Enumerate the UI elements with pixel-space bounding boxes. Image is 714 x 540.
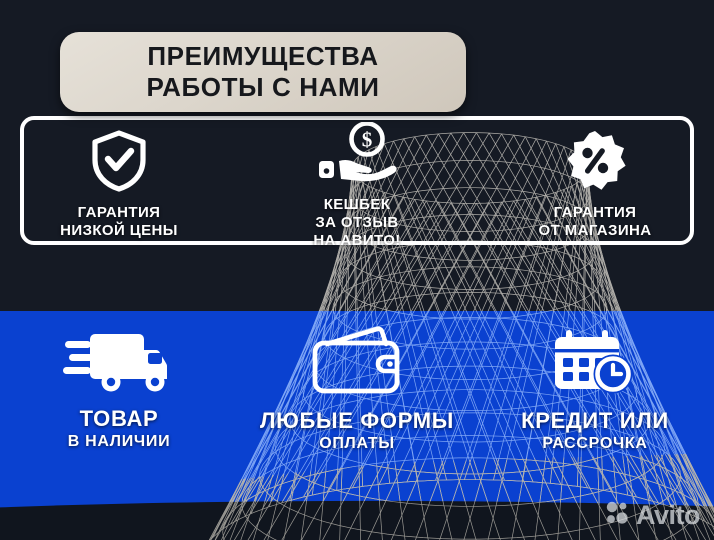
delivery-truck-icon [63,326,175,399]
wallet-icon [305,326,409,401]
caption-line-3: НА АВИТО! [313,232,400,250]
feature-caption: ГАРАНТИЯ ОТ МАГАЗИНА [539,204,652,240]
caption-line-2: В НАЛИЧИИ [68,431,171,452]
calendar-clock-icon [549,326,641,401]
feature-in-stock: ТОВАР В НАЛИЧИИ [0,326,238,456]
percent-badge-icon [564,130,626,197]
shield-check-icon [91,130,147,197]
caption-line-2: ОТ МАГАЗИНА [539,222,652,240]
caption-line-1: ЛЮБЫЕ ФОРМЫ [260,408,454,433]
caption-line-1: КРЕДИТ ИЛИ [521,408,669,433]
title-banner: ПРЕИМУЩЕСТВА РАБОТЫ С НАМИ [60,32,466,112]
avito-watermark: Avito [605,501,700,530]
promo-banner-image: ПРЕИМУЩЕСТВА РАБОТЫ С НАМИ ГАРАНТИЯ НИЗК… [0,0,714,540]
feature-caption: ГАРАНТИЯ НИЗКОЙ ЦЕНЫ [60,204,178,240]
bottom-feature-row: ТОВАР В НАЛИЧИИ ЛЮБЫЕ ФОРМЫ ОПЛАТЫ [0,326,714,456]
caption-line-2: ОПЛАТЫ [260,433,454,454]
feature-caption: ЛЮБЫЕ ФОРМЫ ОПЛАТЫ [260,408,454,454]
avito-logo-icon [605,501,631,530]
caption-line-1: ТОВАР [68,406,171,431]
caption-line-1: ГАРАНТИЯ [60,204,178,222]
feature-caption: ТОВАР В НАЛИЧИИ [68,406,171,452]
avito-wordmark: Avito [636,502,700,529]
title-line-1: ПРЕИМУЩЕСТВА [147,41,378,72]
feature-cashback-avito: $ КЕШБЕК ЗА ОТЗЫВ НА АВИТО! [238,130,476,255]
feature-payment-methods: ЛЮБЫЕ ФОРМЫ ОПЛАТЫ [238,326,476,456]
caption-line-1: ГАРАНТИЯ [539,204,652,222]
caption-line-2: ЗА ОТЗЫВ [313,214,400,232]
svg-text:$: $ [362,128,373,152]
feature-caption: КЕШБЕК ЗА ОТЗЫВ НА АВИТО! [313,196,400,250]
feature-guarantee-low-price: ГАРАНТИЯ НИЗКОЙ ЦЕНЫ [0,130,238,255]
feature-store-guarantee: ГАРАНТИЯ ОТ МАГАЗИНА [476,130,714,255]
caption-line-2: НИЗКОЙ ЦЕНЫ [60,222,178,240]
feature-caption: КРЕДИТ ИЛИ РАССРОЧКА [521,408,669,454]
caption-line-1: КЕШБЕК [313,196,400,214]
title-line-2: РАБОТЫ С НАМИ [146,72,379,103]
feature-credit-installment: КРЕДИТ ИЛИ РАССРОЧКА [476,326,714,456]
hand-coin-icon: $ [311,130,403,189]
top-feature-row: ГАРАНТИЯ НИЗКОЙ ЦЕНЫ $ КЕШБЕК ЗА ОТЗЫВ Н… [0,130,714,255]
caption-line-2: РАССРОЧКА [521,433,669,454]
